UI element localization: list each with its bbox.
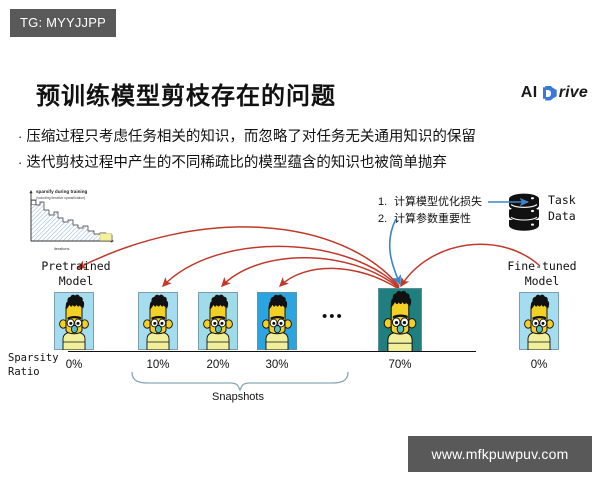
pretrained-label-line2: Model (20, 274, 132, 289)
sparsity-label-line1: Sparsity (8, 351, 59, 365)
logo-text-ai: AI (521, 84, 538, 102)
model-card-snapshot-10[interactable] (138, 292, 178, 350)
database-icon (507, 192, 541, 232)
telegram-watermark-badge: TG: MYYJJPP (10, 9, 116, 37)
step-text: 计算模型优化损失 (394, 196, 482, 208)
arrow-loss-to-model (390, 219, 400, 284)
page-title: 预训练模型剪枝存在的问题 (36, 76, 336, 111)
arrow-to-snapshot-20 (222, 258, 399, 288)
mini-chart-caption-main: sparsify during training (36, 189, 87, 194)
model-card-snapshot-70[interactable] (378, 288, 422, 352)
sparsity-axis-line (68, 351, 476, 352)
bullet-list: ·压缩过程只考虑任务相关的知识，而忽略了对任务无关通用知识的保留 ·迭代剪枝过程… (18, 126, 588, 178)
snapshots-brace (132, 372, 348, 390)
ratio-value-pretrained: 0% (52, 359, 96, 371)
bullet-item: ·迭代剪枝过程中产生的不同稀疏比的模型蕴含的知识也被简单抛弃 (18, 152, 588, 174)
bullet-item: ·压缩过程只考虑任务相关的知识，而忽略了对任务无关通用知识的保留 (18, 126, 588, 148)
bullet-text: 压缩过程只考虑任务相关的知识，而忽略了对任务无关通用知识的保留 (26, 129, 476, 145)
ratio-value-snapshot-10: 10% (136, 359, 180, 371)
pretrained-model-label: Pretrained Model (20, 259, 132, 289)
task-data-label: Task Data (548, 192, 576, 224)
ratio-value-snapshot-30: 30% (255, 359, 299, 371)
step-number: 1. (378, 194, 394, 211)
snapshots-label: Snapshots (168, 391, 308, 403)
finetuned-label-line1: Fine-tuned (490, 259, 594, 274)
step-text: 计算参数重要性 (394, 213, 471, 225)
logo-text-rive: rive (559, 84, 588, 102)
model-card-snapshot-30[interactable] (257, 292, 297, 350)
mini-chart-xaxis-label: iterations (54, 247, 69, 251)
finetuned-label-line2: Model (490, 274, 594, 289)
compute-step-item: 1.计算模型优化损失 (378, 194, 482, 211)
arrow-to-snapshot-10 (163, 246, 399, 287)
mini-chart-caption-sub: (including iterative sparsification) (36, 196, 85, 200)
bullet-marker: · (18, 155, 22, 170)
sparsify-mini-chart: sparsify during training (including iter… (18, 188, 118, 250)
step-number: 2. (378, 211, 394, 228)
slide-canvas: TG: MYYJJPP 预训练模型剪枝存在的问题 AI rive ·压缩过程只考… (0, 0, 600, 480)
ratio-value-finetuned: 0% (517, 359, 561, 371)
compute-step-item: 2.计算参数重要性 (378, 211, 482, 228)
arrow-to-snapshot-30 (280, 268, 399, 289)
bullet-marker: · (18, 129, 22, 144)
compute-steps-list: 1.计算模型优化损失 2.计算参数重要性 (378, 194, 482, 228)
model-card-pretrained[interactable] (54, 292, 94, 350)
pretrained-label-line1: Pretrained (20, 259, 132, 274)
sparsity-ratio-label: Sparsity Ratio (8, 351, 59, 379)
ratio-value-snapshot-70: 70% (378, 359, 422, 371)
task-data-line1: Task (548, 192, 576, 208)
ellipsis-separator: ••• (322, 308, 344, 325)
model-card-finetuned[interactable] (519, 292, 559, 350)
url-watermark-badge: www.mfkpuwpuv.com (408, 436, 592, 472)
task-data-line2: Data (548, 208, 576, 224)
ratio-value-snapshot-20: 20% (196, 359, 240, 371)
sparsity-label-line2: Ratio (8, 365, 59, 379)
bullet-text: 迭代剪枝过程中产生的不同稀疏比的模型蕴含的知识也被简单抛弃 (26, 155, 447, 171)
logo-d-icon (543, 86, 557, 101)
aidrive-logo: AI rive (521, 84, 588, 102)
model-card-snapshot-20[interactable] (198, 292, 238, 350)
finetuned-model-label: Fine-tuned Model (490, 259, 594, 289)
